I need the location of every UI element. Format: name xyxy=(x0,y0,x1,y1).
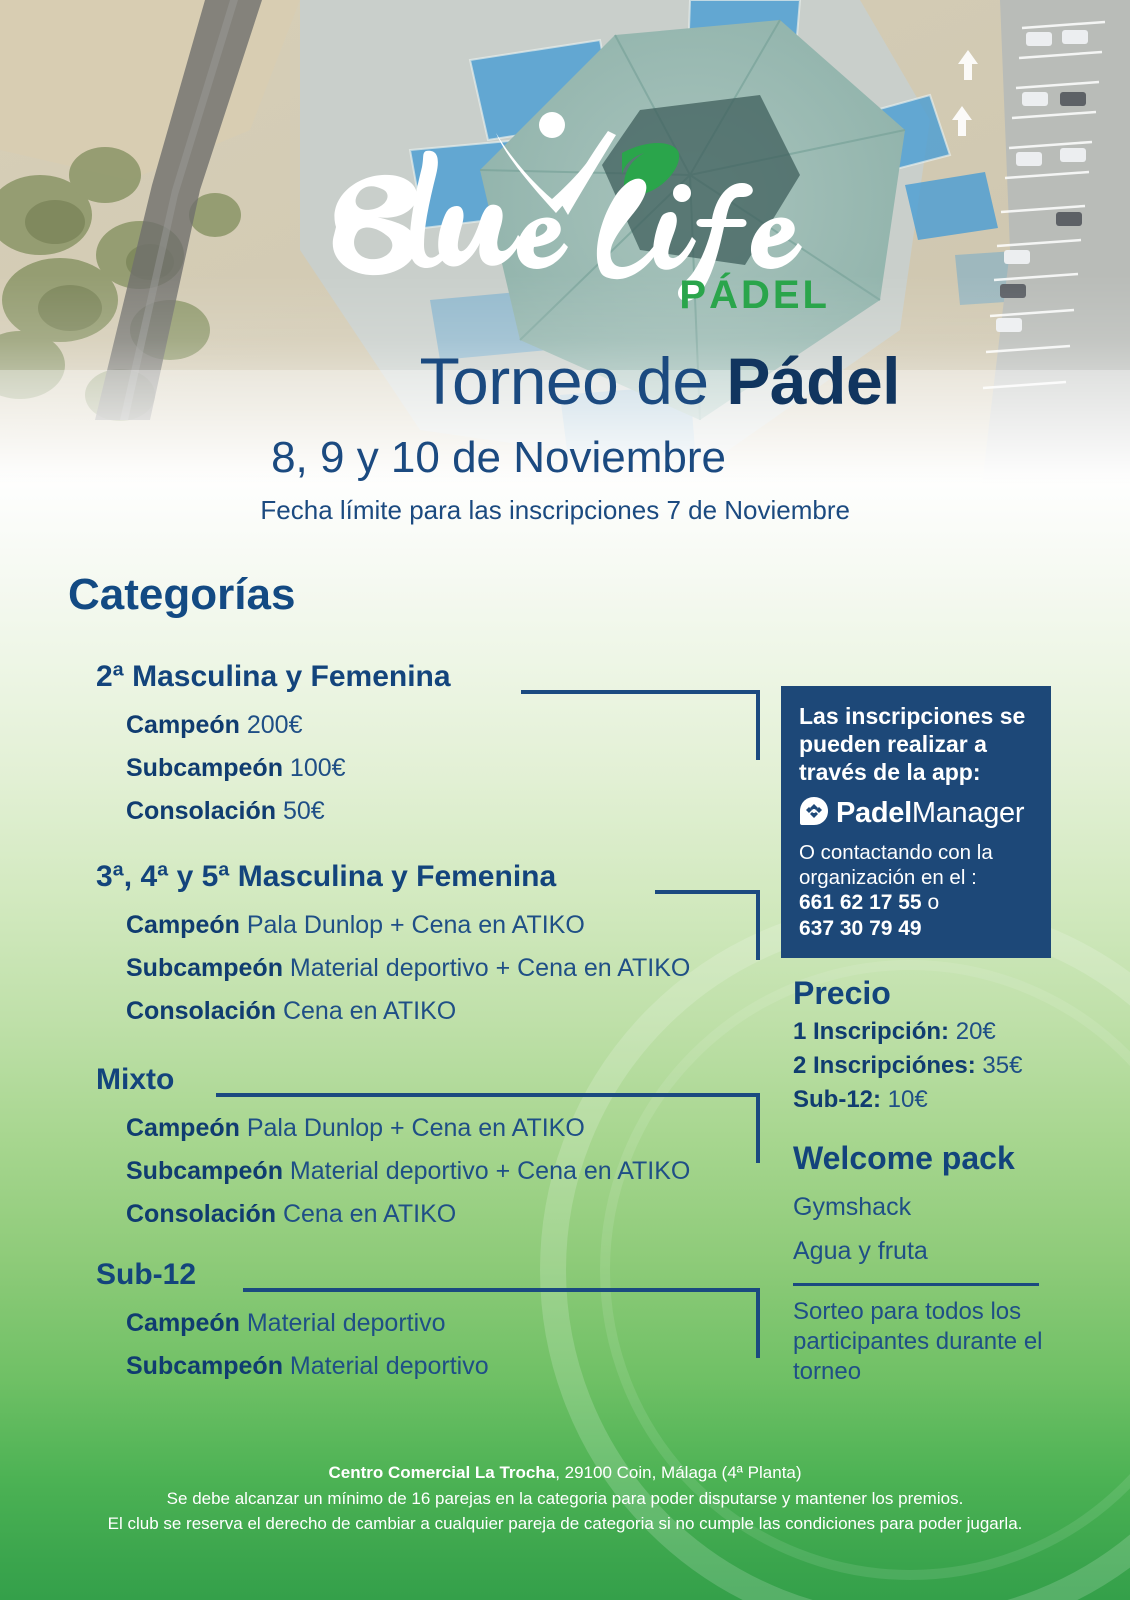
padelmanager-logo: PadelManager xyxy=(799,796,1035,831)
price-item: 2 Inscripciónes: 35€ xyxy=(793,1049,1063,1083)
padelmanager-name: PadelManager xyxy=(836,799,1024,828)
registration-deadline: Fecha límite para las inscripciones 7 de… xyxy=(0,497,850,523)
category-prizes: Campeón Pala Dunlop + Cena en ATIKO Subc… xyxy=(96,904,690,1033)
raffle-note: Sorteo para todos los participantes dura… xyxy=(793,1297,1045,1387)
welcome-pack-item: Agua y fruta xyxy=(793,1230,1063,1274)
title-bold: Pádel xyxy=(726,344,900,418)
price-heading: Precio xyxy=(793,975,891,1012)
category-prizes: Campeón Material deportivo Subcampeón Ma… xyxy=(96,1302,489,1388)
category-name: Mixto xyxy=(96,1063,174,1097)
bluelife-logo: PÁDEL xyxy=(300,95,830,325)
welcome-pack-list: Gymshack Agua y fruta xyxy=(793,1186,1063,1274)
padelmanager-icon xyxy=(799,796,829,831)
prize-row: Subcampeón 100€ xyxy=(96,747,451,790)
poster: PÁDEL Torneo de Pádel 8, 9 y 10 de Novie… xyxy=(0,0,1130,1600)
signup-info-box: Las inscripciones se pueden realizar a t… xyxy=(781,686,1051,958)
phone-line-2: 637 30 79 49 xyxy=(799,916,1035,942)
category-name: 2ª Masculina y Femenina xyxy=(96,660,451,694)
prize-row: Subcampeón Material deportivo + Cena en … xyxy=(96,947,690,990)
category-name: 3ª, 4ª y 5ª Masculina y Femenina xyxy=(96,860,556,894)
welcome-pack-heading: Welcome pack xyxy=(793,1140,1015,1177)
welcome-pack-item: Gymshack xyxy=(793,1186,1063,1230)
footer-rule-2: El club se reserva el derecho de cambiar… xyxy=(0,1511,1130,1537)
category-block-1: 3ª, 4ª y 5ª Masculina y Femenina Campeón… xyxy=(96,860,690,1033)
footer-venue: Centro Comercial La Trocha, 29100 Coin, … xyxy=(0,1460,1130,1486)
category-name: Sub-12 xyxy=(96,1258,196,1292)
event-dates: 8, 9 y 10 de Noviembre xyxy=(0,436,726,480)
category-prizes: Campeón Pala Dunlop + Cena en ATIKO Subc… xyxy=(96,1107,690,1236)
category-block-0: 2ª Masculina y Femenina Campeón 200€ Sub… xyxy=(96,660,451,833)
contact-text: O contactando con la organización en el … xyxy=(799,840,1035,890)
prize-row: Consolación 50€ xyxy=(96,790,451,833)
prize-row: Consolación Cena en ATIKO xyxy=(96,990,690,1033)
prize-row: Campeón 200€ xyxy=(96,704,451,747)
page-title: Torneo de Pádel xyxy=(0,348,900,414)
price-item: 1 Inscripción: 20€ xyxy=(793,1015,1063,1049)
category-block-2: Mixto Campeón Pala Dunlop + Cena en ATIK… xyxy=(96,1063,690,1236)
phone-line-1: 661 62 17 55 o xyxy=(799,890,1035,916)
prize-row: Subcampeón Material deportivo + Cena en … xyxy=(96,1150,690,1193)
logo-padel-word: PÁDEL xyxy=(679,273,830,318)
divider xyxy=(793,1283,1039,1286)
prize-row: Campeón Pala Dunlop + Cena en ATIKO xyxy=(96,904,690,947)
footer-rule-1: Se debe alcanzar un mínimo de 16 parejas… xyxy=(0,1486,1130,1512)
prize-row: Consolación Cena en ATIKO xyxy=(96,1193,690,1236)
prize-row: Campeón Pala Dunlop + Cena en ATIKO xyxy=(96,1107,690,1150)
prize-row: Subcampeón Material deportivo xyxy=(96,1345,489,1388)
categories-heading: Categorías xyxy=(68,570,295,620)
category-block-3: Sub-12 Campeón Material deportivo Subcam… xyxy=(96,1258,489,1388)
footer: Centro Comercial La Trocha, 29100 Coin, … xyxy=(0,1460,1130,1537)
category-prizes: Campeón 200€ Subcampeón 100€ Consolación… xyxy=(96,704,451,833)
prize-row: Campeón Material deportivo xyxy=(96,1302,489,1345)
price-list: 1 Inscripción: 20€ 2 Inscripciónes: 35€ … xyxy=(793,1015,1063,1117)
signup-heading: Las inscripciones se pueden realizar a t… xyxy=(799,702,1035,786)
title-regular: Torneo de xyxy=(420,344,727,418)
price-item: Sub-12: 10€ xyxy=(793,1083,1063,1117)
